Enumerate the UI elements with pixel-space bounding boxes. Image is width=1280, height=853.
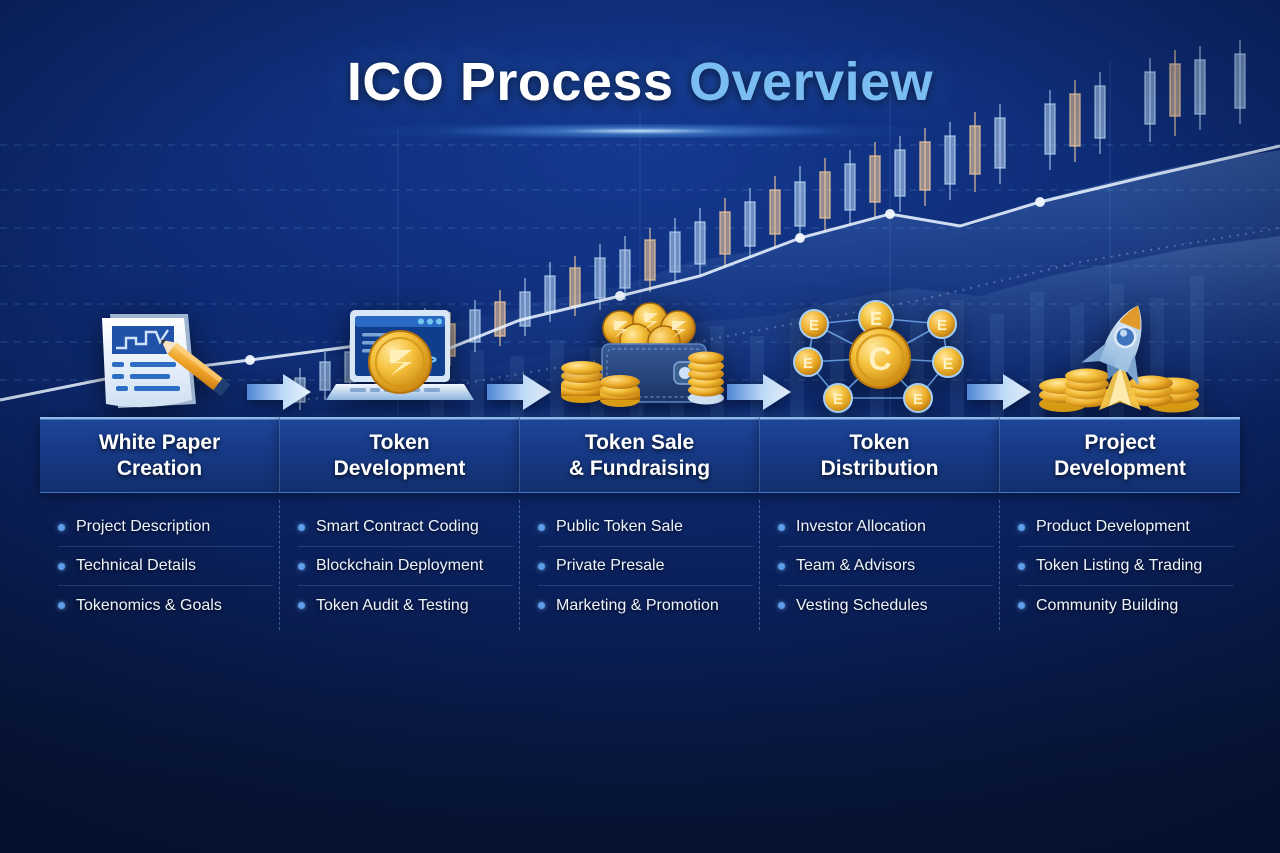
rocket-coins-icon [1025,300,1215,418]
bullet-dot-icon [298,563,305,570]
stage-token-distribution[interactable]: E E E E E E E C Token Distribution [760,300,1000,630]
title-block: ICO Process Overview [0,54,1280,111]
list-item-label: Community Building [1036,598,1178,614]
stage-header[interactable]: Token Distribution [760,417,1000,493]
bullet-dot-icon [58,602,65,609]
stage-header[interactable]: White Paper Creation [40,417,280,493]
list-item-label: Token Audit & Testing [316,598,469,614]
stage-icon-zone: E E E E E E E C [760,300,1000,418]
list-item[interactable]: Token Audit & Testing [298,586,513,625]
stage-icon-zone [40,300,280,418]
list-item-label: Product Development [1036,519,1190,535]
stage-heading: White Paper Creation [91,430,228,481]
title-accent: Overview [689,52,933,112]
laptop-coin-code-icon: < > [316,300,484,418]
page-title: ICO Process Overview [0,54,1280,111]
list-item-label: Technical Details [76,558,196,574]
stage-header[interactable]: Project Development [1000,417,1240,493]
bullet-dot-icon [58,524,65,531]
list-item[interactable]: Vesting Schedules [778,586,993,625]
list-item[interactable]: Project Description [58,508,273,547]
bullet-dot-icon [298,602,305,609]
stage-bullet-list: Project Description Technical Details To… [40,500,280,630]
list-item[interactable]: Marketing & Promotion [538,586,753,625]
stage-token-sale-fundraising[interactable]: Token Sale & Fundraising Public Token Sa… [520,300,760,630]
list-item-label: Investor Allocation [796,519,926,535]
list-item-label: Public Token Sale [556,519,683,535]
stage-heading: Token Distribution [813,430,947,481]
stage-bullet-list: Smart Contract Coding Blockchain Deploym… [280,500,520,630]
stage-header[interactable]: Token Development [280,417,520,493]
stage-token-development[interactable]: < > Token Development [280,300,520,630]
stage-bullet-list: Product Development Token Listing & Trad… [1000,500,1240,630]
wallet-coins-icon [554,300,726,418]
stage-project-development[interactable]: Project Development Product Development … [1000,300,1240,630]
bullet-dot-icon [58,563,65,570]
list-item[interactable]: Team & Advisors [778,547,993,586]
stage-bullet-list: Investor Allocation Team & Advisors Vest… [760,500,1000,630]
list-item[interactable]: Technical Details [58,547,273,586]
process-pipeline: White Paper Creation Project Description… [40,300,1240,630]
infographic-canvas: ICO Process Overview [0,0,1280,853]
list-item-label: Vesting Schedules [796,598,928,614]
stage-icon-zone: < > [280,300,520,418]
stage-white-paper-creation[interactable]: White Paper Creation Project Description… [40,300,280,630]
bullet-dot-icon [1018,563,1025,570]
coin-network-icon: E E E E E E E C [790,300,970,418]
bullet-dot-icon [778,602,785,609]
list-item-label: Smart Contract Coding [316,519,479,535]
list-item[interactable]: Community Building [1018,586,1234,625]
list-item[interactable]: Investor Allocation [778,508,993,547]
stage-icon-zone [1000,300,1240,418]
stage-icon-zone [520,300,760,418]
list-item[interactable]: Smart Contract Coding [298,508,513,547]
bullet-dot-icon [538,563,545,570]
svg-text:C: C [868,341,891,377]
svg-text:E: E [803,355,813,372]
svg-text:E: E [870,309,882,329]
svg-text:E: E [937,317,947,334]
list-item-label: Blockchain Deployment [316,558,483,574]
bullet-dot-icon [778,524,785,531]
list-item-label: Project Description [76,519,210,535]
svg-text:E: E [913,391,923,408]
bullet-dot-icon [298,524,305,531]
title-main: ICO Process [347,52,689,112]
stage-heading: Project Development [1046,430,1194,481]
list-item[interactable]: Product Development [1018,508,1234,547]
list-item[interactable]: Tokenomics & Goals [58,586,273,625]
bullet-dot-icon [778,563,785,570]
document-pencil-icon [76,300,244,418]
list-item-label: Private Presale [556,558,665,574]
list-item-label: Tokenomics & Goals [76,598,222,614]
bullet-dot-icon [1018,602,1025,609]
svg-text:E: E [809,317,819,334]
list-item-label: Marketing & Promotion [556,598,719,614]
stage-heading: Token Development [326,430,474,481]
list-item[interactable]: Public Token Sale [538,508,753,547]
bullet-dot-icon [538,524,545,531]
svg-text:E: E [943,356,954,373]
stage-header[interactable]: Token Sale & Fundraising [520,417,760,493]
list-item-label: Team & Advisors [796,558,915,574]
bullet-dot-icon [538,602,545,609]
stage-bullet-list: Public Token Sale Private Presale Market… [520,500,760,630]
list-item[interactable]: Token Listing & Trading [1018,547,1234,586]
list-item[interactable]: Blockchain Deployment [298,547,513,586]
list-item[interactable]: Private Presale [538,547,753,586]
svg-text:E: E [833,391,843,408]
bullet-dot-icon [1018,524,1025,531]
list-item-label: Token Listing & Trading [1036,558,1202,574]
stage-heading: Token Sale & Fundraising [561,430,718,481]
